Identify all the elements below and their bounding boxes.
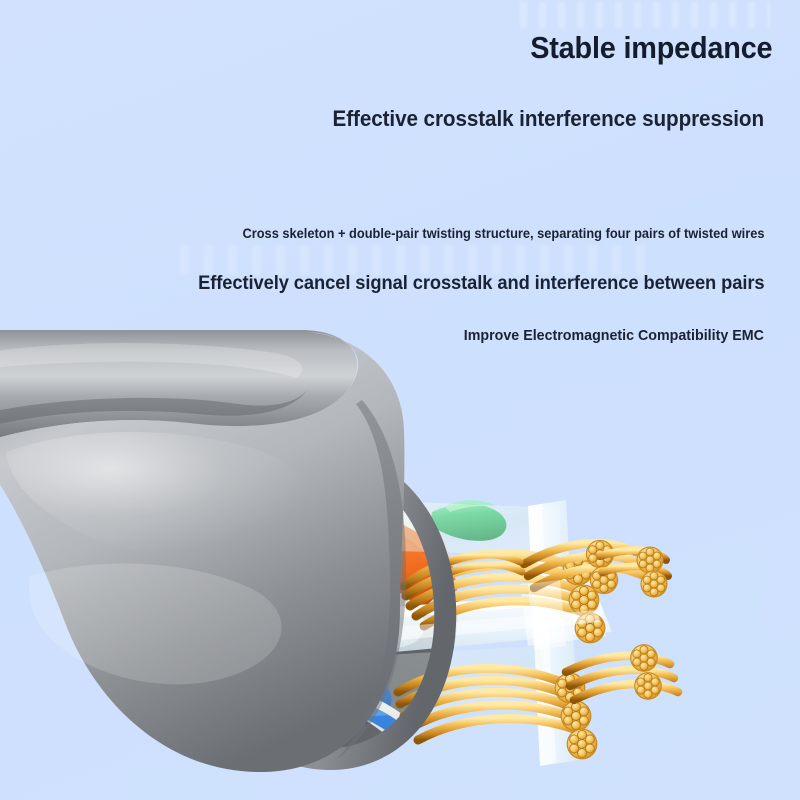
cable-jacket (0, 330, 406, 772)
copper-bundle-lower-right (566, 644, 678, 700)
page-title: Stable impedance (530, 30, 772, 66)
feature-line-1: Cross skeleton + double-pair twisting st… (242, 226, 764, 241)
feature-line-3: Improve Electromagnetic Compatibility EM… (464, 327, 764, 344)
feature-line-2: Effectively cancel signal crosstalk and … (198, 272, 764, 295)
product-feature-image: Stable impedance Effective crosstalk int… (0, 0, 800, 800)
page-subtitle: Effective crosstalk interference suppres… (333, 106, 764, 132)
